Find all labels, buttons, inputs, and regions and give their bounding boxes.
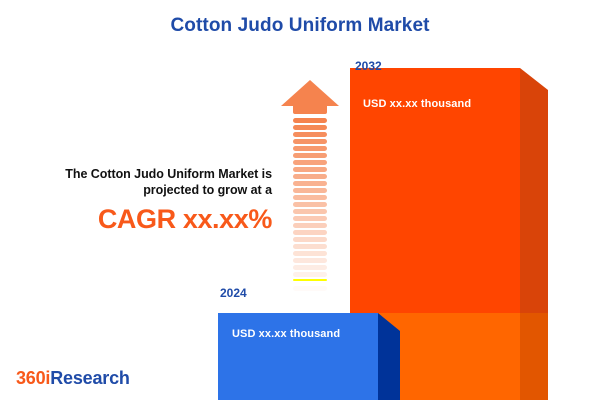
cagr-value: CAGR xx.xx%: [18, 204, 272, 234]
statement-line-1: The Cotton Judo Uniform Market is: [18, 166, 272, 182]
arrow-segment: [293, 125, 327, 130]
bar-value-2032: USD xx.xx thousand: [363, 98, 471, 110]
bar-2024-front: [218, 313, 378, 400]
arrow-segment: [293, 118, 327, 123]
arrow-segment: [293, 230, 327, 235]
arrow-segment: [293, 216, 327, 221]
arrow-neck: [293, 105, 327, 114]
arrow-segment: [293, 195, 327, 200]
growth-statement: The Cotton Judo Uniform Market is projec…: [18, 166, 272, 234]
arrow-segment: [293, 244, 327, 249]
logo-mark: 360i: [16, 368, 50, 388]
arrow-segment: [293, 146, 327, 151]
arrow-segment: [293, 293, 327, 298]
arrow-triangle: [281, 80, 339, 106]
arrow-head: [281, 80, 339, 112]
arrow-segment: [293, 202, 327, 207]
logo-word: Research: [50, 368, 129, 388]
arrow-segment: [293, 132, 327, 137]
statement-line-2: projected to grow at a: [18, 182, 272, 198]
arrow-segment: [293, 139, 327, 144]
arrow-segment: [293, 251, 327, 256]
arrow-segment: [293, 279, 327, 281]
year-label-2024: 2024: [220, 286, 247, 300]
arrow-segment: [293, 265, 327, 270]
arrow-segment: [293, 209, 327, 214]
bar-2032-side-face-lower: [520, 313, 548, 400]
growth-arrow-icon: [281, 80, 339, 295]
bar-value-2024: USD xx.xx thousand: [232, 328, 340, 340]
arrow-segment: [293, 237, 327, 242]
arrow-segment: [293, 272, 327, 277]
arrow-segment: [293, 188, 327, 193]
arrow-segment: [293, 181, 327, 186]
arrow-segment: [293, 167, 327, 172]
arrow-segment: [293, 223, 327, 228]
infographic-canvas: Cotton Judo Uniform Market 2032 2024 USD…: [0, 0, 600, 400]
arrow-segment: [293, 286, 327, 291]
arrow-segment: [293, 153, 327, 158]
brand-logo[interactable]: 360iResearch: [16, 368, 130, 389]
arrow-segment: [293, 258, 327, 263]
arrow-segment: [293, 160, 327, 165]
arrow-segment: [293, 174, 327, 179]
year-label-2032: 2032: [355, 59, 382, 73]
